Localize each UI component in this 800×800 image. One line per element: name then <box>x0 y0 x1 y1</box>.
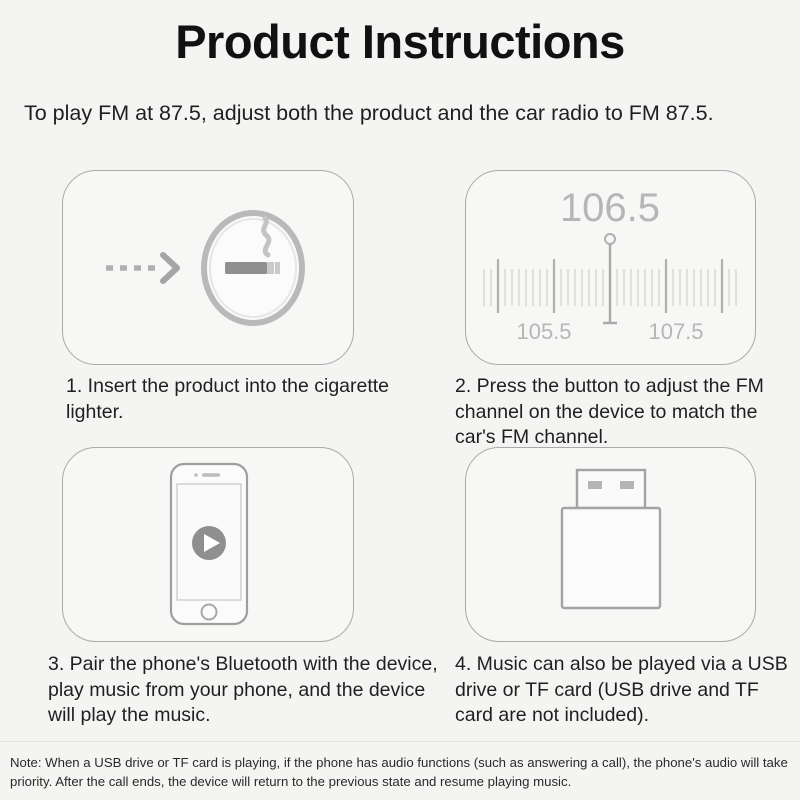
intro-text: To play FM at 87.5, adjust both the prod… <box>24 98 780 129</box>
phone-camera-icon <box>194 473 198 477</box>
step-3-illustration-panel <box>62 447 354 642</box>
step-3-caption: 3. Pair the phone's Bluetooth with the d… <box>48 652 443 729</box>
usb-flash-drive-illustration <box>466 448 755 640</box>
usb-connector <box>577 470 645 508</box>
tuner-scale-label-left: 105.5 <box>516 319 571 344</box>
tuner-frequency-readout: 106.5 <box>560 186 660 230</box>
arrow-head-icon <box>163 255 177 281</box>
product-instructions-page: Product Instructions To play FM at 87.5,… <box>0 0 800 800</box>
step-4-illustration-panel <box>465 447 756 642</box>
tuner-needle[interactable] <box>603 234 617 323</box>
step-2-caption: 2. Press the button to adjust the FM cha… <box>455 374 795 451</box>
step-1-illustration-panel <box>62 170 354 365</box>
fm-tuner-dial-illustration: 106.5 <box>466 171 755 363</box>
footer-divider <box>0 741 800 742</box>
phone-earpiece-speaker <box>202 473 220 477</box>
usb-contact-right <box>620 481 634 489</box>
cigarette-filter-segment-1 <box>267 262 274 274</box>
step-1-caption: 1. Insert the product into the cigarette… <box>66 374 396 425</box>
cigarette-lighter-socket-illustration <box>63 171 353 363</box>
page-title: Product Instructions <box>0 14 800 69</box>
step-2-illustration-panel: 106.5 <box>465 170 756 365</box>
tuner-scale-label-right: 107.5 <box>648 319 703 344</box>
cigarette-body <box>225 262 267 274</box>
step-4-caption: 4. Music can also be played via a USB dr… <box>455 652 800 729</box>
usb-body <box>562 508 660 608</box>
smartphone-play-illustration <box>63 448 353 640</box>
cigarette-filter-segment-2 <box>275 262 280 274</box>
play-button-icon[interactable] <box>192 526 226 560</box>
usb-contact-left <box>588 481 602 489</box>
footer-note: Note: When a USB drive or TF card is pla… <box>10 754 794 791</box>
